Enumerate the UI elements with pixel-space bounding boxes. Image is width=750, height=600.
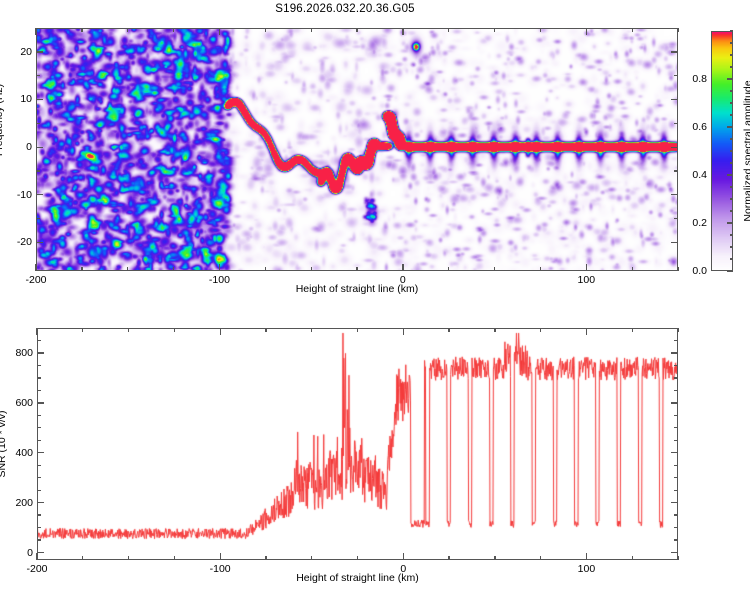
axis-tick — [674, 340, 678, 341]
axis-tick — [35, 28, 36, 35]
axis-tick — [586, 264, 587, 271]
colorbar-tick — [730, 102, 734, 103]
x-tick-label: -200 — [26, 563, 47, 575]
axis-tick — [81, 28, 82, 32]
colorbar-tick — [730, 234, 734, 235]
axis-tick — [671, 402, 678, 403]
axis-tick — [37, 377, 41, 378]
y-tick-label: 0 — [27, 547, 33, 559]
axis-tick — [37, 452, 44, 453]
axis-tick — [311, 28, 312, 32]
axis-tick — [174, 328, 175, 332]
colorbar-tick — [730, 258, 734, 259]
axis-tick — [265, 267, 266, 271]
axis-tick — [36, 242, 43, 243]
axis-tick — [671, 452, 678, 453]
axis-tick — [37, 552, 44, 553]
axis-tick — [671, 502, 678, 503]
colorbar-label: Normalized spectral amplitude — [742, 80, 750, 221]
axis-tick — [448, 328, 449, 332]
axis-tick — [37, 514, 41, 515]
axis-tick — [674, 123, 678, 124]
axis-tick — [173, 28, 174, 32]
axis-tick — [671, 99, 678, 100]
colorbar-tick-label: 0.6 — [692, 121, 707, 133]
axis-tick — [403, 328, 404, 335]
axis-tick — [173, 267, 174, 271]
axis-tick — [674, 75, 678, 76]
colorbar-tick — [730, 90, 734, 91]
colorbar — [711, 31, 733, 271]
axis-tick — [37, 527, 41, 528]
axis-tick — [37, 340, 41, 341]
axis-tick — [671, 147, 678, 148]
axis-tick — [586, 553, 587, 560]
axis-tick — [674, 218, 678, 219]
axis-tick — [632, 328, 633, 332]
colorbar-tick — [730, 42, 734, 43]
axis-tick — [674, 365, 678, 366]
axis-tick — [632, 28, 633, 32]
axis-tick — [265, 328, 266, 332]
axis-tick — [311, 328, 312, 332]
axis-tick — [674, 390, 678, 391]
axis-tick — [674, 527, 678, 528]
axis-tick — [127, 267, 128, 271]
axis-tick — [127, 28, 128, 32]
axis-tick — [677, 267, 678, 271]
axis-tick — [403, 553, 404, 560]
axis-tick — [671, 552, 678, 553]
axis-tick — [540, 28, 541, 32]
axis-tick — [37, 539, 41, 540]
axis-tick — [37, 365, 41, 366]
axis-tick — [36, 170, 40, 171]
colorbar-tick — [730, 114, 734, 115]
y-tick-label: 10 — [20, 93, 32, 105]
colorbar-tick-label: 0.0 — [692, 265, 707, 277]
axis-tick — [37, 440, 41, 441]
axis-tick — [37, 390, 41, 391]
axis-tick — [174, 556, 175, 560]
frequency-axis-label: Frequency (Hz) — [0, 84, 5, 156]
colorbar-tick — [727, 174, 733, 175]
axis-tick — [357, 556, 358, 560]
axis-tick — [674, 490, 678, 491]
colorbar-tick — [730, 246, 734, 247]
axis-tick — [674, 465, 678, 466]
colorbar-tick — [730, 30, 734, 31]
axis-tick — [37, 465, 41, 466]
axis-tick — [674, 170, 678, 171]
axis-tick — [448, 28, 449, 32]
axis-tick — [671, 194, 678, 195]
axis-tick — [674, 539, 678, 540]
y-tick-label: 800 — [15, 347, 33, 359]
axis-tick — [36, 553, 37, 560]
axis-tick — [671, 51, 678, 52]
colorbar-tick — [730, 210, 734, 211]
page-title: S196.2026.032.20.36.G05 — [0, 3, 690, 15]
axis-tick — [36, 123, 40, 124]
axis-tick — [37, 427, 41, 428]
axis-tick — [36, 147, 43, 148]
x-tick-label: -100 — [210, 563, 231, 575]
y-tick-label: 0 — [26, 141, 32, 153]
axis-tick — [36, 328, 37, 335]
axis-tick — [37, 502, 44, 503]
y-tick-label: 400 — [15, 447, 33, 459]
axis-tick — [220, 328, 221, 335]
axis-tick — [265, 28, 266, 32]
axis-tick — [356, 267, 357, 271]
colorbar-tick — [730, 150, 734, 151]
axis-tick — [36, 99, 43, 100]
axis-tick — [220, 553, 221, 560]
axis-tick — [128, 556, 129, 560]
colorbar-tick-label: 0.2 — [692, 217, 707, 229]
axis-tick — [674, 427, 678, 428]
axis-tick — [37, 477, 41, 478]
colorbar-tick-label: 0.4 — [692, 169, 707, 181]
axis-tick — [674, 514, 678, 515]
axis-tick — [128, 328, 129, 332]
axis-tick — [448, 267, 449, 271]
x-tick-label: 100 — [578, 274, 596, 286]
axis-tick — [82, 328, 83, 332]
x-tick-label: 0 — [400, 563, 406, 575]
axis-tick — [36, 75, 40, 76]
axis-tick — [36, 51, 43, 52]
spectrogram-panel — [36, 28, 678, 271]
colorbar-tick — [730, 66, 734, 67]
axis-tick — [586, 328, 587, 335]
axis-tick — [81, 267, 82, 271]
axis-tick — [677, 328, 678, 332]
colorbar-tick — [727, 126, 733, 127]
colorbar-tick-label: 0.8 — [692, 73, 707, 85]
snr-canvas — [37, 328, 678, 560]
axis-tick — [674, 440, 678, 441]
axis-tick — [494, 328, 495, 332]
axis-tick — [311, 267, 312, 271]
axis-tick — [540, 328, 541, 332]
axis-tick — [677, 28, 678, 32]
x-tick-label: 100 — [578, 563, 596, 575]
axis-tick — [35, 264, 36, 271]
axis-tick — [540, 267, 541, 271]
axis-tick — [677, 556, 678, 560]
axis-tick — [36, 194, 43, 195]
snr-axis-label: SNR (10 * v/v) — [0, 410, 8, 477]
axis-tick — [37, 402, 44, 403]
axis-tick — [674, 415, 678, 416]
axis-tick — [632, 267, 633, 271]
axis-tick — [37, 490, 41, 491]
colorbar-tick — [730, 198, 734, 199]
axis-tick — [219, 264, 220, 271]
x-tick-label: -100 — [209, 274, 230, 286]
snr-panel — [37, 328, 678, 560]
axis-tick — [540, 556, 541, 560]
axis-tick — [265, 556, 266, 560]
axis-tick — [356, 28, 357, 32]
axis-tick — [82, 556, 83, 560]
colorbar-tick — [730, 54, 734, 55]
y-tick-label: 600 — [15, 397, 33, 409]
x-tick-label: -200 — [25, 274, 46, 286]
axis-tick — [36, 218, 40, 219]
axis-tick — [311, 556, 312, 560]
axis-tick — [448, 556, 449, 560]
axis-tick — [671, 352, 678, 353]
colorbar-tick — [727, 270, 733, 271]
axis-tick — [402, 264, 403, 271]
axis-tick — [402, 28, 403, 35]
axis-tick — [674, 477, 678, 478]
axis-tick — [671, 242, 678, 243]
axis-tick — [37, 415, 41, 416]
axis-tick — [494, 267, 495, 271]
colorbar-tick — [730, 162, 734, 163]
axis-tick — [37, 352, 44, 353]
x-tick-label: 0 — [400, 274, 406, 286]
axis-tick — [219, 28, 220, 35]
y-tick-label: -20 — [17, 236, 32, 248]
colorbar-tick — [727, 78, 733, 79]
colorbar-tick — [730, 138, 734, 139]
y-tick-label: 200 — [15, 497, 33, 509]
colorbar-tick — [730, 186, 734, 187]
y-tick-label: 20 — [20, 46, 32, 58]
axis-tick — [632, 556, 633, 560]
y-tick-label: -10 — [17, 189, 32, 201]
spectrogram-canvas — [36, 28, 678, 271]
colorbar-tick — [727, 222, 733, 223]
axis-tick — [586, 28, 587, 35]
axis-tick — [494, 28, 495, 32]
axis-tick — [674, 377, 678, 378]
axis-tick — [494, 556, 495, 560]
axis-tick — [357, 328, 358, 332]
